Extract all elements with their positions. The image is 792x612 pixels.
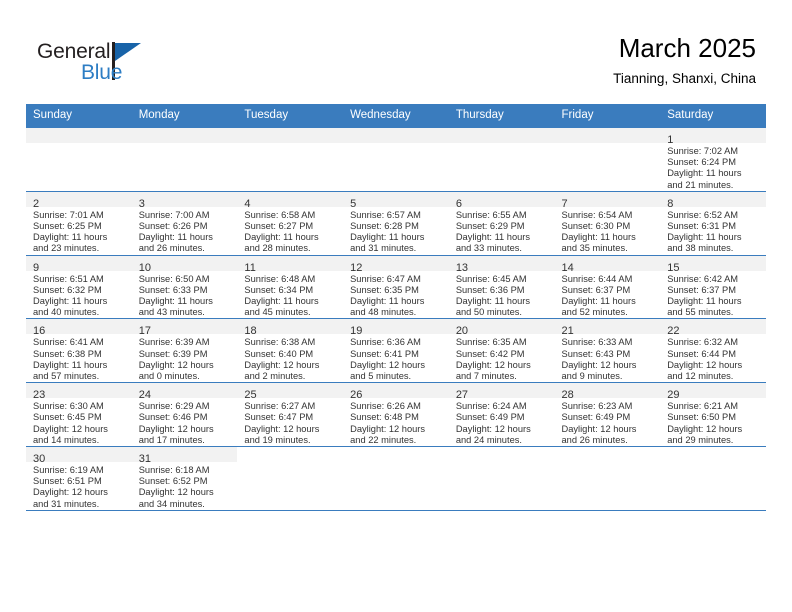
day-details: Sunrise: 6:48 AMSunset: 6:34 PMDaylight:… <box>237 271 343 319</box>
cell-inner: 10Sunrise: 6:50 AMSunset: 6:33 PMDayligh… <box>132 256 238 319</box>
day-number-band: 25 <box>237 383 343 398</box>
sunset-text: Sunset: 6:50 PM <box>667 412 761 423</box>
sunrise-text: Sunrise: 6:32 AM <box>667 337 761 348</box>
sunrise-text: Sunrise: 6:55 AM <box>456 210 550 221</box>
daylight-text-line2: and 28 minutes. <box>244 243 338 254</box>
day-details: Sunrise: 6:30 AMSunset: 6:45 PMDaylight:… <box>26 398 132 446</box>
day-number: 23 <box>33 389 45 401</box>
daylight-text-line1: Daylight: 12 hours <box>33 424 127 435</box>
daylight-text-line2: and 38 minutes. <box>667 243 761 254</box>
daylight-text-line2: and 14 minutes. <box>33 435 127 446</box>
daylight-text-line1: Daylight: 12 hours <box>667 360 761 371</box>
logo-text-blue: Blue <box>81 61 122 85</box>
day-details: Sunrise: 7:00 AMSunset: 6:26 PMDaylight:… <box>132 207 238 255</box>
daylight-text-line2: and 55 minutes. <box>667 307 761 318</box>
calendar-day-cell[interactable]: 12Sunrise: 6:47 AMSunset: 6:35 PMDayligh… <box>343 255 449 319</box>
general-blue-logo[interactable]: General Blue <box>37 40 217 90</box>
day-details: Sunrise: 6:39 AMSunset: 6:39 PMDaylight:… <box>132 334 238 382</box>
day-number-band <box>343 447 449 462</box>
cell-inner: 29Sunrise: 6:21 AMSunset: 6:50 PMDayligh… <box>660 383 766 446</box>
daylight-text-line1: Daylight: 11 hours <box>456 232 550 243</box>
sunrise-text: Sunrise: 6:54 AM <box>562 210 656 221</box>
day-number: 26 <box>350 389 362 401</box>
day-number-band <box>555 128 661 143</box>
cell-inner: 1Sunrise: 7:02 AMSunset: 6:24 PMDaylight… <box>660 128 766 191</box>
day-number-band: 11 <box>237 256 343 271</box>
weekday-header-thursday: Thursday <box>449 104 555 128</box>
calendar-page: General Blue March 2025 Tianning, Shanxi… <box>0 0 792 612</box>
daylight-text-line2: and 7 minutes. <box>456 371 550 382</box>
day-number-band: 9 <box>26 256 132 271</box>
sunset-text: Sunset: 6:26 PM <box>139 221 233 232</box>
day-details: Sunrise: 6:44 AMSunset: 6:37 PMDaylight:… <box>555 271 661 319</box>
sunrise-text: Sunrise: 6:33 AM <box>562 337 656 348</box>
sunset-text: Sunset: 6:24 PM <box>667 157 761 168</box>
day-number: 19 <box>350 325 362 337</box>
day-number: 13 <box>456 262 468 274</box>
sunset-text: Sunset: 6:42 PM <box>456 349 550 360</box>
day-number: 15 <box>667 262 679 274</box>
day-number: 12 <box>350 262 362 274</box>
calendar-day-cell[interactable]: 5Sunrise: 6:57 AMSunset: 6:28 PMDaylight… <box>343 191 449 255</box>
cell-inner: 5Sunrise: 6:57 AMSunset: 6:28 PMDaylight… <box>343 192 449 255</box>
day-number-band: 2 <box>26 192 132 207</box>
day-number-band: 30 <box>26 447 132 462</box>
daylight-text-line1: Daylight: 12 hours <box>139 360 233 371</box>
sunset-text: Sunset: 6:46 PM <box>139 412 233 423</box>
daylight-text-line1: Daylight: 12 hours <box>562 360 656 371</box>
daylight-text-line2: and 34 minutes. <box>139 499 233 510</box>
cell-inner: 18Sunrise: 6:38 AMSunset: 6:40 PMDayligh… <box>237 319 343 382</box>
calendar-day-cell[interactable]: 8Sunrise: 6:52 AMSunset: 6:31 PMDaylight… <box>660 191 766 255</box>
cell-inner: 4Sunrise: 6:58 AMSunset: 6:27 PMDaylight… <box>237 192 343 255</box>
day-number: 28 <box>562 389 574 401</box>
day-number-band: 13 <box>449 256 555 271</box>
day-number-band: 24 <box>132 383 238 398</box>
daylight-text-line2: and 22 minutes. <box>350 435 444 446</box>
day-number: 29 <box>667 389 679 401</box>
day-number-band: 10 <box>132 256 238 271</box>
sunset-text: Sunset: 6:37 PM <box>667 285 761 296</box>
sunrise-text: Sunrise: 6:36 AM <box>350 337 444 348</box>
calendar-empty-cell <box>343 447 449 511</box>
calendar-day-cell[interactable]: 26Sunrise: 6:26 AMSunset: 6:48 PMDayligh… <box>343 383 449 447</box>
calendar-day-cell[interactable]: 21Sunrise: 6:33 AMSunset: 6:43 PMDayligh… <box>555 319 661 383</box>
calendar-day-cell[interactable]: 15Sunrise: 6:42 AMSunset: 6:37 PMDayligh… <box>660 255 766 319</box>
calendar-day-cell[interactable]: 28Sunrise: 6:23 AMSunset: 6:49 PMDayligh… <box>555 383 661 447</box>
sunset-text: Sunset: 6:37 PM <box>562 285 656 296</box>
daylight-text-line1: Daylight: 12 hours <box>244 360 338 371</box>
day-number-band: 26 <box>343 383 449 398</box>
calendar-day-cell[interactable]: 17Sunrise: 6:39 AMSunset: 6:39 PMDayligh… <box>132 319 238 383</box>
day-number-band <box>26 128 132 143</box>
day-number-band: 6 <box>449 192 555 207</box>
day-number-band: 16 <box>26 319 132 334</box>
daylight-text-line1: Daylight: 11 hours <box>244 232 338 243</box>
calendar-week-row: 30Sunrise: 6:19 AMSunset: 6:51 PMDayligh… <box>26 447 766 511</box>
sunrise-text: Sunrise: 6:35 AM <box>456 337 550 348</box>
day-number: 4 <box>244 198 250 210</box>
calendar-day-cell[interactable]: 27Sunrise: 6:24 AMSunset: 6:49 PMDayligh… <box>449 383 555 447</box>
day-number: 14 <box>562 262 574 274</box>
day-details: Sunrise: 6:41 AMSunset: 6:38 PMDaylight:… <box>26 334 132 382</box>
day-number: 8 <box>667 198 673 210</box>
sunrise-text: Sunrise: 6:30 AM <box>33 401 127 412</box>
cell-inner <box>237 447 343 510</box>
day-details: Sunrise: 6:57 AMSunset: 6:28 PMDaylight:… <box>343 207 449 255</box>
daylight-text-line2: and 50 minutes. <box>456 307 550 318</box>
cell-inner <box>660 447 766 510</box>
daylight-text-line2: and 2 minutes. <box>244 371 338 382</box>
sunset-text: Sunset: 6:51 PM <box>33 476 127 487</box>
day-details: Sunrise: 6:45 AMSunset: 6:36 PMDaylight:… <box>449 271 555 319</box>
sunset-text: Sunset: 6:38 PM <box>33 349 127 360</box>
calendar-day-cell[interactable]: 31Sunrise: 6:18 AMSunset: 6:52 PMDayligh… <box>132 447 238 511</box>
calendar-week-row: 16Sunrise: 6:41 AMSunset: 6:38 PMDayligh… <box>26 319 766 383</box>
daylight-text-line1: Daylight: 12 hours <box>562 424 656 435</box>
sunrise-text: Sunrise: 6:48 AM <box>244 274 338 285</box>
daylight-text-line1: Daylight: 11 hours <box>350 296 444 307</box>
cell-inner <box>449 128 555 191</box>
day-number-band: 18 <box>237 319 343 334</box>
sunset-text: Sunset: 6:35 PM <box>350 285 444 296</box>
day-number-band: 21 <box>555 319 661 334</box>
sunrise-text: Sunrise: 6:52 AM <box>667 210 761 221</box>
sunrise-text: Sunrise: 6:51 AM <box>33 274 127 285</box>
daylight-text-line2: and 57 minutes. <box>33 371 127 382</box>
calendar-day-cell[interactable]: 2Sunrise: 7:01 AMSunset: 6:25 PMDaylight… <box>26 191 132 255</box>
weekday-header-tuesday: Tuesday <box>237 104 343 128</box>
daylight-text-line1: Daylight: 11 hours <box>667 232 761 243</box>
sunrise-text: Sunrise: 6:50 AM <box>139 274 233 285</box>
cell-inner: 15Sunrise: 6:42 AMSunset: 6:37 PMDayligh… <box>660 256 766 319</box>
cell-inner <box>132 128 238 191</box>
daylight-text-line1: Daylight: 11 hours <box>139 232 233 243</box>
calendar-empty-cell <box>237 128 343 192</box>
daylight-text-line1: Daylight: 11 hours <box>244 296 338 307</box>
calendar-day-cell[interactable]: 13Sunrise: 6:45 AMSunset: 6:36 PMDayligh… <box>449 255 555 319</box>
daylight-text-line1: Daylight: 11 hours <box>562 232 656 243</box>
daylight-text-line2: and 5 minutes. <box>350 371 444 382</box>
daylight-text-line2: and 48 minutes. <box>350 307 444 318</box>
weekday-header-wednesday: Wednesday <box>343 104 449 128</box>
sunset-text: Sunset: 6:36 PM <box>456 285 550 296</box>
daylight-text-line1: Daylight: 11 hours <box>562 296 656 307</box>
day-details: Sunrise: 6:50 AMSunset: 6:33 PMDaylight:… <box>132 271 238 319</box>
cell-inner: 21Sunrise: 6:33 AMSunset: 6:43 PMDayligh… <box>555 319 661 382</box>
sunset-text: Sunset: 6:43 PM <box>562 349 656 360</box>
daylight-text-line2: and 45 minutes. <box>244 307 338 318</box>
sunrise-text: Sunrise: 6:38 AM <box>244 337 338 348</box>
sunset-text: Sunset: 6:49 PM <box>562 412 656 423</box>
day-details: Sunrise: 6:23 AMSunset: 6:49 PMDaylight:… <box>555 398 661 446</box>
title-block: March 2025 Tianning, Shanxi, China <box>613 32 756 89</box>
day-details: Sunrise: 6:19 AMSunset: 6:51 PMDaylight:… <box>26 462 132 510</box>
day-number: 30 <box>33 453 45 465</box>
day-details: Sunrise: 6:27 AMSunset: 6:47 PMDaylight:… <box>237 398 343 446</box>
day-details: Sunrise: 6:55 AMSunset: 6:29 PMDaylight:… <box>449 207 555 255</box>
day-number: 16 <box>33 325 45 337</box>
calendar-week-row: 9Sunrise: 6:51 AMSunset: 6:32 PMDaylight… <box>26 255 766 319</box>
calendar-day-cell[interactable]: 23Sunrise: 6:30 AMSunset: 6:45 PMDayligh… <box>26 383 132 447</box>
weekday-header-friday: Friday <box>555 104 661 128</box>
sunrise-text: Sunrise: 6:39 AM <box>139 337 233 348</box>
calendar-day-cell[interactable]: 16Sunrise: 6:41 AMSunset: 6:38 PMDayligh… <box>26 319 132 383</box>
cell-inner: 3Sunrise: 7:00 AMSunset: 6:26 PMDaylight… <box>132 192 238 255</box>
sunset-text: Sunset: 6:49 PM <box>456 412 550 423</box>
day-number-band: 17 <box>132 319 238 334</box>
sunrise-text: Sunrise: 6:44 AM <box>562 274 656 285</box>
calendar-day-cell[interactable]: 14Sunrise: 6:44 AMSunset: 6:37 PMDayligh… <box>555 255 661 319</box>
weekday-header-saturday: Saturday <box>660 104 766 128</box>
daylight-text-line2: and 43 minutes. <box>139 307 233 318</box>
cell-inner <box>555 128 661 191</box>
day-number-band: 27 <box>449 383 555 398</box>
daylight-text-line1: Daylight: 11 hours <box>33 360 127 371</box>
day-number-band: 22 <box>660 319 766 334</box>
cell-inner: 11Sunrise: 6:48 AMSunset: 6:34 PMDayligh… <box>237 256 343 319</box>
day-number: 18 <box>244 325 256 337</box>
sunset-text: Sunset: 6:45 PM <box>33 412 127 423</box>
calendar-week-row: 1Sunrise: 7:02 AMSunset: 6:24 PMDaylight… <box>26 128 766 192</box>
day-number-band: 20 <box>449 319 555 334</box>
cell-inner: 12Sunrise: 6:47 AMSunset: 6:35 PMDayligh… <box>343 256 449 319</box>
day-details: Sunrise: 6:33 AMSunset: 6:43 PMDaylight:… <box>555 334 661 382</box>
cell-inner: 28Sunrise: 6:23 AMSunset: 6:49 PMDayligh… <box>555 383 661 446</box>
weekday-header-sunday: Sunday <box>26 104 132 128</box>
day-number: 3 <box>139 198 145 210</box>
day-details: Sunrise: 7:01 AMSunset: 6:25 PMDaylight:… <box>26 207 132 255</box>
calendar-day-cell[interactable]: 3Sunrise: 7:00 AMSunset: 6:26 PMDaylight… <box>132 191 238 255</box>
daylight-text-line1: Daylight: 12 hours <box>139 487 233 498</box>
calendar-day-cell[interactable]: 11Sunrise: 6:48 AMSunset: 6:34 PMDayligh… <box>237 255 343 319</box>
sunset-text: Sunset: 6:34 PM <box>244 285 338 296</box>
day-number-band: 19 <box>343 319 449 334</box>
daylight-text-line2: and 52 minutes. <box>562 307 656 318</box>
sunrise-text: Sunrise: 6:57 AM <box>350 210 444 221</box>
day-details: Sunrise: 6:32 AMSunset: 6:44 PMDaylight:… <box>660 334 766 382</box>
calendar-day-cell[interactable]: 7Sunrise: 6:54 AMSunset: 6:30 PMDaylight… <box>555 191 661 255</box>
day-details: Sunrise: 6:29 AMSunset: 6:46 PMDaylight:… <box>132 398 238 446</box>
sunrise-text: Sunrise: 6:45 AM <box>456 274 550 285</box>
day-details: Sunrise: 6:42 AMSunset: 6:37 PMDaylight:… <box>660 271 766 319</box>
sunrise-text: Sunrise: 6:24 AM <box>456 401 550 412</box>
daylight-text-line2: and 19 minutes. <box>244 435 338 446</box>
calendar-day-cell[interactable]: 25Sunrise: 6:27 AMSunset: 6:47 PMDayligh… <box>237 383 343 447</box>
daylight-text-line2: and 0 minutes. <box>139 371 233 382</box>
day-number-band: 15 <box>660 256 766 271</box>
day-number: 22 <box>667 325 679 337</box>
day-number-band: 4 <box>237 192 343 207</box>
daylight-text-line1: Daylight: 11 hours <box>456 296 550 307</box>
sunset-text: Sunset: 6:27 PM <box>244 221 338 232</box>
day-number-band: 31 <box>132 447 238 462</box>
sunset-text: Sunset: 6:28 PM <box>350 221 444 232</box>
calendar-day-cell[interactable]: 29Sunrise: 6:21 AMSunset: 6:50 PMDayligh… <box>660 383 766 447</box>
daylight-text-line1: Daylight: 12 hours <box>350 360 444 371</box>
day-details: Sunrise: 6:58 AMSunset: 6:27 PMDaylight:… <box>237 207 343 255</box>
sunrise-text: Sunrise: 6:19 AM <box>33 465 127 476</box>
calendar-empty-cell <box>343 128 449 192</box>
calendar-day-cell[interactable]: 18Sunrise: 6:38 AMSunset: 6:40 PMDayligh… <box>237 319 343 383</box>
calendar-day-cell[interactable]: 10Sunrise: 6:50 AMSunset: 6:33 PMDayligh… <box>132 255 238 319</box>
daylight-text-line1: Daylight: 11 hours <box>667 168 761 179</box>
calendar-grid: Sunday Monday Tuesday Wednesday Thursday… <box>26 104 766 511</box>
sunset-text: Sunset: 6:44 PM <box>667 349 761 360</box>
cell-inner: 7Sunrise: 6:54 AMSunset: 6:30 PMDaylight… <box>555 192 661 255</box>
cell-inner <box>555 447 661 510</box>
cell-inner: 25Sunrise: 6:27 AMSunset: 6:47 PMDayligh… <box>237 383 343 446</box>
cell-inner: 6Sunrise: 6:55 AMSunset: 6:29 PMDaylight… <box>449 192 555 255</box>
daylight-text-line2: and 31 minutes. <box>33 499 127 510</box>
sunrise-text: Sunrise: 6:26 AM <box>350 401 444 412</box>
calendar-day-cell[interactable]: 19Sunrise: 6:36 AMSunset: 6:41 PMDayligh… <box>343 319 449 383</box>
calendar-empty-cell <box>449 128 555 192</box>
cell-inner <box>449 447 555 510</box>
sunset-text: Sunset: 6:47 PM <box>244 412 338 423</box>
day-number: 21 <box>562 325 574 337</box>
calendar-day-cell[interactable]: 20Sunrise: 6:35 AMSunset: 6:42 PMDayligh… <box>449 319 555 383</box>
cell-inner: 19Sunrise: 6:36 AMSunset: 6:41 PMDayligh… <box>343 319 449 382</box>
sunrise-text: Sunrise: 7:00 AM <box>139 210 233 221</box>
day-number: 25 <box>244 389 256 401</box>
calendar-empty-cell <box>132 128 238 192</box>
day-number-band: 1 <box>660 128 766 143</box>
day-details: Sunrise: 6:52 AMSunset: 6:31 PMDaylight:… <box>660 207 766 255</box>
day-number-band: 3 <box>132 192 238 207</box>
calendar-day-cell[interactable]: 22Sunrise: 6:32 AMSunset: 6:44 PMDayligh… <box>660 319 766 383</box>
day-number: 9 <box>33 262 39 274</box>
day-details: Sunrise: 6:21 AMSunset: 6:50 PMDaylight:… <box>660 398 766 446</box>
sunset-text: Sunset: 6:33 PM <box>139 285 233 296</box>
day-number-band: 12 <box>343 256 449 271</box>
day-number: 17 <box>139 325 151 337</box>
daylight-text-line1: Daylight: 11 hours <box>667 296 761 307</box>
cell-inner: 16Sunrise: 6:41 AMSunset: 6:38 PMDayligh… <box>26 319 132 382</box>
page-header: General Blue March 2025 Tianning, Shanxi… <box>0 0 792 100</box>
day-details: Sunrise: 6:38 AMSunset: 6:40 PMDaylight:… <box>237 334 343 382</box>
cell-inner: 13Sunrise: 6:45 AMSunset: 6:36 PMDayligh… <box>449 256 555 319</box>
daylight-text-line2: and 21 minutes. <box>667 180 761 191</box>
daylight-text-line1: Daylight: 12 hours <box>244 424 338 435</box>
day-details: Sunrise: 6:35 AMSunset: 6:42 PMDaylight:… <box>449 334 555 382</box>
sunset-text: Sunset: 6:39 PM <box>139 349 233 360</box>
calendar-empty-cell <box>660 447 766 511</box>
day-details: Sunrise: 6:54 AMSunset: 6:30 PMDaylight:… <box>555 207 661 255</box>
calendar-day-cell[interactable]: 30Sunrise: 6:19 AMSunset: 6:51 PMDayligh… <box>26 447 132 511</box>
day-details: Sunrise: 6:47 AMSunset: 6:35 PMDaylight:… <box>343 271 449 319</box>
calendar-day-cell[interactable]: 6Sunrise: 6:55 AMSunset: 6:29 PMDaylight… <box>449 191 555 255</box>
cell-inner: 17Sunrise: 6:39 AMSunset: 6:39 PMDayligh… <box>132 319 238 382</box>
day-details: Sunrise: 6:18 AMSunset: 6:52 PMDaylight:… <box>132 462 238 510</box>
calendar-body: 1Sunrise: 7:02 AMSunset: 6:24 PMDaylight… <box>26 128 766 511</box>
sunset-text: Sunset: 6:32 PM <box>33 285 127 296</box>
cell-inner <box>343 128 449 191</box>
sunrise-text: Sunrise: 6:18 AM <box>139 465 233 476</box>
day-number-band: 8 <box>660 192 766 207</box>
location-subtitle: Tianning, Shanxi, China <box>613 69 756 89</box>
daylight-text-line2: and 9 minutes. <box>562 371 656 382</box>
cell-inner: 8Sunrise: 6:52 AMSunset: 6:31 PMDaylight… <box>660 192 766 255</box>
calendar-empty-cell <box>26 128 132 192</box>
day-number-band <box>449 447 555 462</box>
daylight-text-line1: Daylight: 12 hours <box>456 360 550 371</box>
cell-inner: 27Sunrise: 6:24 AMSunset: 6:49 PMDayligh… <box>449 383 555 446</box>
cell-inner: 23Sunrise: 6:30 AMSunset: 6:45 PMDayligh… <box>26 383 132 446</box>
day-number: 20 <box>456 325 468 337</box>
daylight-text-line2: and 26 minutes. <box>139 243 233 254</box>
sunrise-text: Sunrise: 6:23 AM <box>562 401 656 412</box>
calendar-empty-cell <box>237 447 343 511</box>
sunset-text: Sunset: 6:52 PM <box>139 476 233 487</box>
calendar-week-row: 2Sunrise: 7:01 AMSunset: 6:25 PMDaylight… <box>26 191 766 255</box>
weekday-header-monday: Monday <box>132 104 238 128</box>
sunrise-text: Sunrise: 7:01 AM <box>33 210 127 221</box>
daylight-text-line1: Daylight: 11 hours <box>33 232 127 243</box>
day-details: Sunrise: 6:24 AMSunset: 6:49 PMDaylight:… <box>449 398 555 446</box>
day-number-band <box>660 447 766 462</box>
daylight-text-line2: and 24 minutes. <box>456 435 550 446</box>
cell-inner: 30Sunrise: 6:19 AMSunset: 6:51 PMDayligh… <box>26 447 132 510</box>
day-number-band <box>555 447 661 462</box>
triangle-flag-icon <box>115 43 141 61</box>
sunrise-text: Sunrise: 6:41 AM <box>33 337 127 348</box>
sunset-text: Sunset: 6:25 PM <box>33 221 127 232</box>
daylight-text-line2: and 31 minutes. <box>350 243 444 254</box>
daylight-text-line1: Daylight: 12 hours <box>139 424 233 435</box>
calendar-empty-cell <box>449 447 555 511</box>
day-details: Sunrise: 7:02 AMSunset: 6:24 PMDaylight:… <box>660 143 766 191</box>
sunset-text: Sunset: 6:31 PM <box>667 221 761 232</box>
daylight-text-line2: and 17 minutes. <box>139 435 233 446</box>
day-number-band: 7 <box>555 192 661 207</box>
daylight-text-line2: and 35 minutes. <box>562 243 656 254</box>
day-number-band <box>237 447 343 462</box>
calendar-day-cell[interactable]: 4Sunrise: 6:58 AMSunset: 6:27 PMDaylight… <box>237 191 343 255</box>
day-number: 27 <box>456 389 468 401</box>
sunset-text: Sunset: 6:48 PM <box>350 412 444 423</box>
weekday-header-row: Sunday Monday Tuesday Wednesday Thursday… <box>26 104 766 128</box>
daylight-text-line1: Daylight: 12 hours <box>33 487 127 498</box>
daylight-text-line2: and 29 minutes. <box>667 435 761 446</box>
cell-inner: 9Sunrise: 6:51 AMSunset: 6:32 PMDaylight… <box>26 256 132 319</box>
daylight-text-line1: Daylight: 12 hours <box>456 424 550 435</box>
calendar-day-cell[interactable]: 1Sunrise: 7:02 AMSunset: 6:24 PMDaylight… <box>660 128 766 192</box>
day-number-band <box>343 128 449 143</box>
daylight-text-line2: and 40 minutes. <box>33 307 127 318</box>
cell-inner: 2Sunrise: 7:01 AMSunset: 6:25 PMDaylight… <box>26 192 132 255</box>
sunrise-text: Sunrise: 6:42 AM <box>667 274 761 285</box>
day-details: Sunrise: 6:36 AMSunset: 6:41 PMDaylight:… <box>343 334 449 382</box>
cell-inner: 14Sunrise: 6:44 AMSunset: 6:37 PMDayligh… <box>555 256 661 319</box>
day-number: 1 <box>667 134 673 146</box>
day-number-band: 28 <box>555 383 661 398</box>
day-number-band <box>449 128 555 143</box>
daylight-text-line1: Daylight: 11 hours <box>33 296 127 307</box>
calendar-day-cell[interactable]: 24Sunrise: 6:29 AMSunset: 6:46 PMDayligh… <box>132 383 238 447</box>
day-number: 2 <box>33 198 39 210</box>
day-number: 7 <box>562 198 568 210</box>
cell-inner: 22Sunrise: 6:32 AMSunset: 6:44 PMDayligh… <box>660 319 766 382</box>
day-number-band: 14 <box>555 256 661 271</box>
calendar-day-cell[interactable]: 9Sunrise: 6:51 AMSunset: 6:32 PMDaylight… <box>26 255 132 319</box>
daylight-text-line1: Daylight: 11 hours <box>350 232 444 243</box>
cell-inner: 31Sunrise: 6:18 AMSunset: 6:52 PMDayligh… <box>132 447 238 510</box>
cell-inner: 26Sunrise: 6:26 AMSunset: 6:48 PMDayligh… <box>343 383 449 446</box>
calendar-empty-cell <box>555 447 661 511</box>
daylight-text-line2: and 33 minutes. <box>456 243 550 254</box>
sunrise-text: Sunrise: 6:47 AM <box>350 274 444 285</box>
